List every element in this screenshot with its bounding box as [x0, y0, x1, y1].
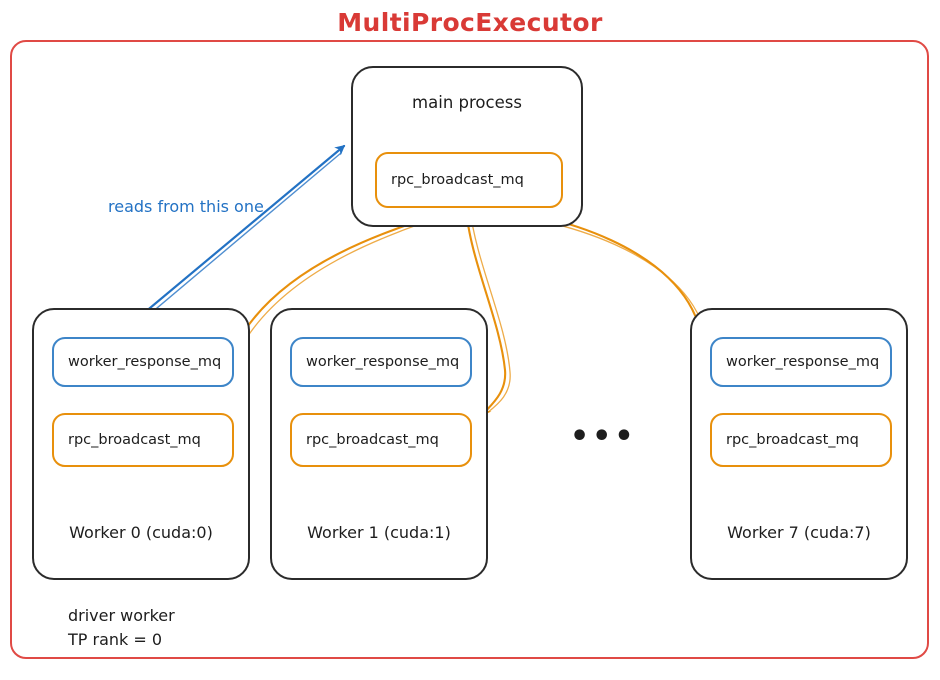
diagram-canvas: MultiProcExecutor main process rpc_broad…: [0, 0, 940, 680]
worker-7-rpc-broadcast-mq-label: rpc_broadcast_mq: [712, 432, 859, 448]
worker-0-rpc-broadcast-mq-box[interactable]: rpc_broadcast_mq: [52, 413, 234, 467]
worker-1-caption: Worker 1 (cuda:1): [272, 522, 486, 544]
main-process-label: main process: [353, 93, 581, 112]
worker-1-rpc-broadcast-mq-label: rpc_broadcast_mq: [292, 432, 439, 448]
page-title: MultiProcExecutor: [0, 8, 940, 37]
worker-7-caption: Worker 7 (cuda:7): [692, 522, 906, 544]
worker-0-response-mq-label: worker_response_mq: [54, 354, 221, 370]
worker-1-response-mq-label: worker_response_mq: [292, 354, 459, 370]
worker-7-box[interactable]: worker_response_mq rpc_broadcast_mq Work…: [690, 308, 908, 580]
worker-0-caption: Worker 0 (cuda:0): [34, 522, 248, 544]
worker-7-response-mq-box[interactable]: worker_response_mq: [710, 337, 892, 387]
driver-worker-note: driver worker TP rank = 0: [68, 604, 175, 652]
workers-ellipsis: •••: [570, 422, 637, 452]
worker-7-response-mq-label: worker_response_mq: [712, 354, 879, 370]
worker-1-response-mq-box[interactable]: worker_response_mq: [290, 337, 472, 387]
worker-0-response-mq-box[interactable]: worker_response_mq: [52, 337, 234, 387]
worker-0-box[interactable]: worker_response_mq rpc_broadcast_mq Work…: [32, 308, 250, 580]
reads-from-annotation: reads from this one: [108, 197, 264, 216]
main-rpc-broadcast-mq-label: rpc_broadcast_mq: [377, 172, 524, 188]
main-process-box[interactable]: main process rpc_broadcast_mq: [351, 66, 583, 227]
worker-0-rpc-broadcast-mq-label: rpc_broadcast_mq: [54, 432, 201, 448]
worker-7-rpc-broadcast-mq-box[interactable]: rpc_broadcast_mq: [710, 413, 892, 467]
worker-1-box[interactable]: worker_response_mq rpc_broadcast_mq Work…: [270, 308, 488, 580]
worker-1-rpc-broadcast-mq-box[interactable]: rpc_broadcast_mq: [290, 413, 472, 467]
main-rpc-broadcast-mq-box[interactable]: rpc_broadcast_mq: [375, 152, 563, 208]
